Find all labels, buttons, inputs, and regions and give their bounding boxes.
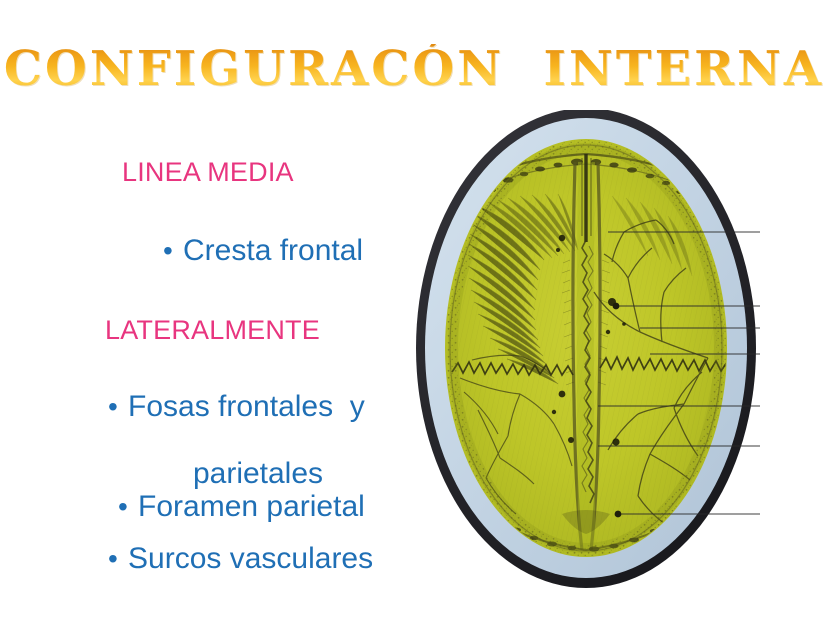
bullet-icon: •	[108, 545, 128, 573]
list-item: •Cresta frontal	[113, 200, 363, 301]
bullet-icon: •	[108, 393, 128, 421]
calvaria-svg	[412, 110, 760, 596]
bullet-icon: •	[163, 237, 183, 265]
page-title: CONFIGURACÓN INTERNA	[0, 44, 828, 94]
list-item-label: Cresta frontal	[183, 234, 363, 267]
section-heading-linea-media: LINEA MEDIA	[122, 158, 294, 188]
list-item-label: Surcos vasculares	[128, 542, 373, 575]
list-item-label: Fosas frontales y	[128, 390, 365, 423]
calvaria-anatomy-image	[412, 110, 760, 596]
section-heading-lateralmente: LATERALMENTE	[105, 316, 320, 346]
list-item: •Surcos vasculares	[58, 508, 373, 609]
content-text-column: LINEA MEDIA •Cresta frontal LATERALMENTE…	[48, 148, 440, 568]
slide-canvas: CONFIGURACÓN INTERNA LINEA MEDIA •Cresta…	[0, 0, 828, 621]
